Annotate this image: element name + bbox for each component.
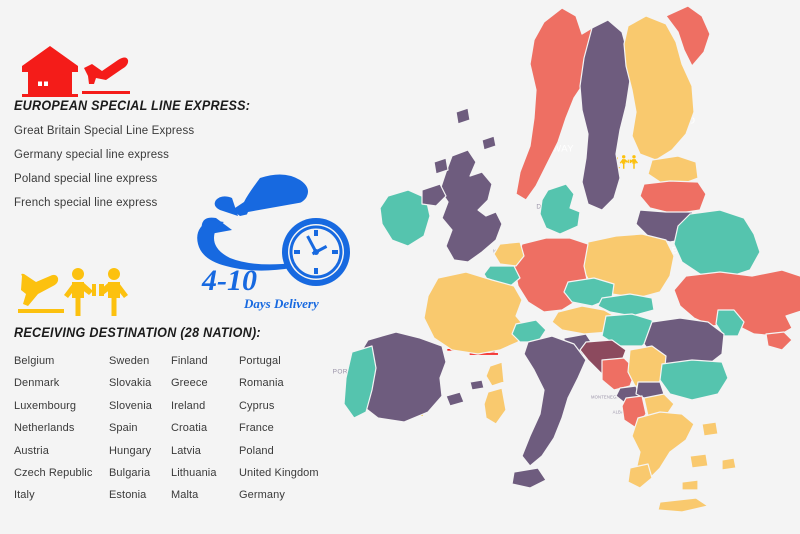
map-country-corsica (486, 362, 504, 386)
map-country-estonia (648, 156, 698, 184)
destination-country: Luxembourg (14, 395, 109, 417)
destination-country: Netherlands (14, 417, 109, 439)
destination-country: Slovenia (109, 395, 171, 417)
map-country-uk-scot-isle1 (456, 108, 470, 124)
destination-country: Austria (14, 440, 109, 462)
destination-country: France (239, 417, 334, 439)
map-country-greece-isl1 (702, 422, 718, 436)
destination-country: Latvia (171, 440, 239, 462)
map-country-greece-isl2 (690, 454, 708, 468)
destination-country: Italy (14, 484, 109, 506)
destination-country: Poland (239, 440, 334, 462)
infographic-canvas: SWEDENNORWAYFINDLANDDENMARKIRELANDUNITED… (0, 0, 800, 534)
destination-country: Ireland (171, 395, 239, 417)
map-country-netherlands (494, 242, 524, 266)
express-service-item: French special line express (14, 196, 194, 210)
map-country-crimea (766, 332, 792, 350)
warehouse-plane-icon (18, 44, 130, 100)
map-country-denmark (540, 184, 580, 234)
map-country-sweden (580, 20, 630, 210)
destination-column: BelgiumDenmarkLuxembourgNetherlandsAustr… (14, 350, 109, 507)
destination-column: FinlandGreeceIrelandCroatiaLatviaLithuan… (171, 350, 239, 507)
destination-country: Germany (239, 484, 334, 506)
destination-country: Czech Republic (14, 462, 109, 484)
express-heading: EUROPEAN SPECIAL LINE EXPRESS: (14, 98, 250, 113)
map-country-italy-sardinia (484, 388, 506, 424)
map-country-italy-sicily (512, 468, 546, 488)
map-country-latvia (640, 181, 706, 214)
express-service-item: Poland special line express (14, 172, 194, 186)
destination-country: Romania (239, 372, 334, 394)
destination-country: Sweden (109, 350, 171, 372)
map-country-bulgaria (660, 360, 728, 400)
destination-country: United Kingdom (239, 462, 334, 484)
express-service-item: Germany special line express (14, 148, 194, 162)
destination-country: Bulgaria (109, 462, 171, 484)
map-country-greece-crete (658, 498, 708, 512)
destination-country: Belgium (14, 350, 109, 372)
map-country-greece-isl4 (682, 480, 698, 490)
logo-days-text: 4-10 (201, 264, 257, 297)
destination-country: Lithuania (171, 462, 239, 484)
destination-country: Croatia (171, 417, 239, 439)
map-country-belorussia (674, 210, 760, 278)
plane-clock-logo: 4-10 Days Delivery (188, 172, 360, 312)
destination-country: Denmark (14, 372, 109, 394)
map-country-italy (522, 336, 586, 466)
express-service-list: Great Britain Special Line ExpressGerman… (14, 124, 194, 220)
express-service-item: Great Britain Special Line Express (14, 124, 194, 138)
map-country-greece-pelop (628, 464, 652, 488)
destination-column: PortugalRomaniaCyprusFrancePolandUnited … (239, 350, 334, 507)
destination-country: Finland (171, 350, 239, 372)
delivery-people-icon (16, 264, 128, 322)
map-country-greece-isl3 (722, 458, 736, 470)
destination-country: Malta (171, 484, 239, 506)
destination-country: Portugal (239, 350, 334, 372)
map-country-uk-scot-isle2 (482, 136, 496, 150)
logo-tagline-text: Days Delivery (243, 296, 319, 311)
destination-country: Slovakia (109, 372, 171, 394)
destination-heading: RECEIVING DESTINATION (28 NATION): (14, 325, 261, 340)
destination-country: Spain (109, 417, 171, 439)
destination-country: Cyprus (239, 395, 334, 417)
destination-country-columns: BelgiumDenmarkLuxembourgNetherlandsAustr… (14, 350, 334, 507)
destination-country: Hungary (109, 440, 171, 462)
map-country-uk (440, 150, 502, 262)
destination-country: Estonia (109, 484, 171, 506)
map-country-balearic2 (470, 380, 484, 390)
destination-column: SwedenSlovakiaSloveniaSpainHungaryBulgar… (109, 350, 171, 507)
map-country-balearic1 (446, 392, 464, 406)
europe-map (330, 0, 800, 534)
destination-country: Greece (171, 372, 239, 394)
